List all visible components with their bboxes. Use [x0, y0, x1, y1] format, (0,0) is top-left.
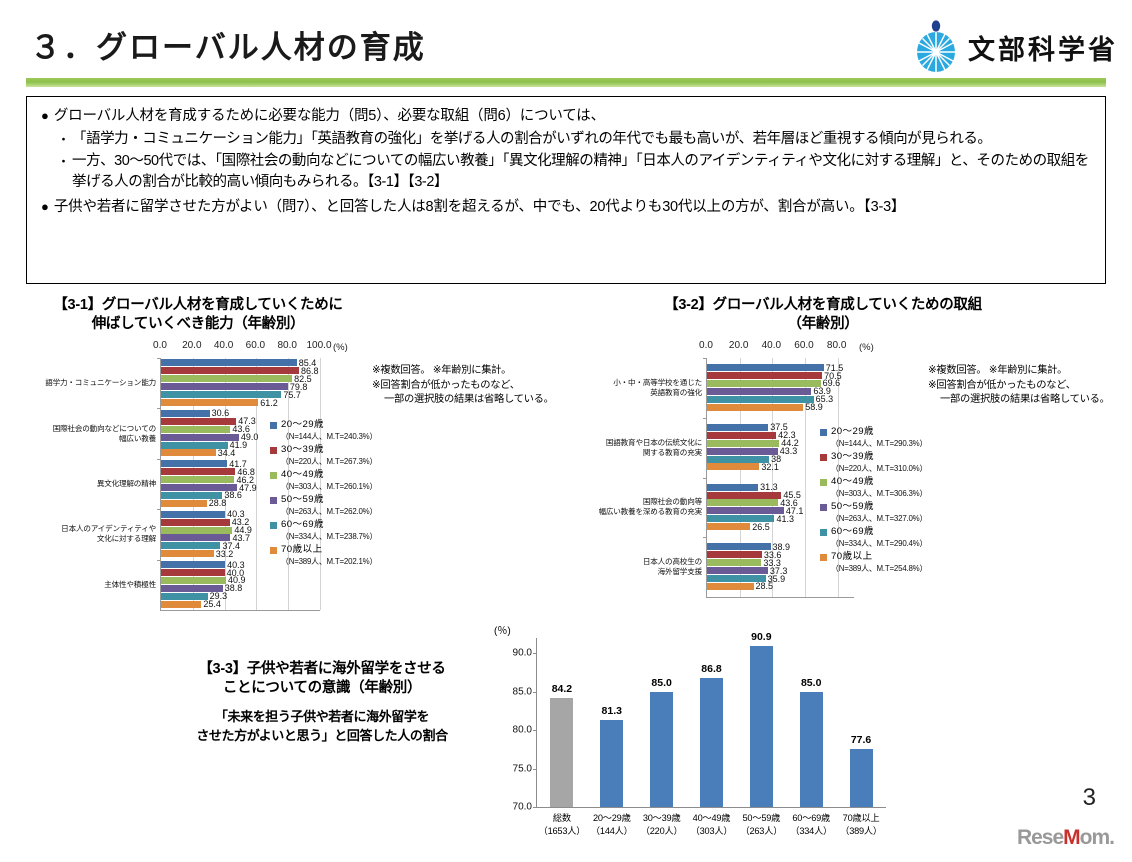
legend-swatch: [270, 472, 277, 479]
ministry-name: 文部科学省: [968, 28, 1118, 67]
bar-value-label: 25.4: [203, 600, 221, 609]
legend-sublabel: （N=220人、M.T=310.0%）: [831, 463, 927, 475]
category-label: 国際社会の動向などについての幅広い教養: [38, 424, 156, 444]
legend-label: 40～49歳: [831, 476, 874, 488]
legend-sublabel: （N=144人、M.T=240.3%）: [281, 431, 377, 443]
summary-text: グローバル人材を育成するために必要な能力（問5）、必要な取組（問6）については、: [54, 106, 605, 127]
axis-tick-label: 40.0: [214, 340, 233, 351]
category-label: 50～59歳（263人）: [740, 812, 782, 838]
chart-3-1-notes: ※複数回答。 ※年齢別に集計。 ※回答割合が低かったものなど、 一部の選択肢の結…: [372, 364, 554, 408]
bar: [161, 550, 214, 557]
legend-sublabel: （N=334人、M.T=290.4%）: [831, 538, 927, 550]
bar: [161, 561, 225, 568]
bar: [161, 601, 201, 608]
legend-sublabel: （N=144人、M.T=290.3%）: [831, 438, 927, 450]
bar: 81.3: [600, 720, 623, 807]
sub-bullet-icon: ・: [57, 129, 70, 150]
bar: [161, 410, 210, 417]
bar-value-label: 77.6: [851, 734, 871, 746]
bar: [707, 456, 769, 463]
page-title: ３．グローバル人材の育成: [30, 22, 426, 67]
legend-sublabel: （N=263人、M.T=262.0%）: [281, 506, 377, 518]
category-label: 60～69歳（334人）: [790, 812, 832, 838]
legend-sublabel: （N=334人、M.T=238.7%）: [281, 531, 377, 543]
bar-value-label: 75.7: [283, 391, 301, 400]
legend-item: 50～59歳（N=263人、M.T=327.0%）: [820, 501, 927, 525]
bar: [707, 424, 768, 431]
bar: [707, 372, 822, 379]
bar: [161, 359, 297, 366]
category-label: 小・中・高等学校を通じた英語教育の強化: [594, 378, 702, 398]
category-label: 語学力・コミュニケーション能力: [38, 378, 156, 388]
bar: [161, 519, 230, 526]
bar-value-label: 43.3: [780, 447, 798, 456]
legend-item: 50～59歳（N=263人、M.T=262.0%）: [270, 494, 377, 518]
axis-tick: [703, 478, 707, 479]
bar-value-label: 90.9: [751, 631, 771, 643]
bar: [161, 500, 207, 507]
legend-sublabel: （N=303人、M.T=260.1%）: [281, 481, 377, 493]
legend-item: 60～69歳（N=334人、M.T=290.4%）: [820, 526, 927, 550]
legend-sublabel: （N=263人、M.T=327.0%）: [831, 513, 927, 525]
category-label: 70歳以上（389人）: [840, 812, 882, 838]
brand-watermark: ReseMom.: [1017, 826, 1114, 850]
legend-label: 50～59歳: [831, 501, 874, 513]
bullet-icon: ●: [41, 106, 49, 125]
legend-item: 30～39歳（N=220人、M.T=310.0%）: [820, 451, 927, 475]
legend-label: 20～29歳: [831, 426, 874, 438]
y-axis-tick: [533, 692, 537, 693]
legend-label: 60～69歳: [831, 526, 874, 538]
legend-item: 40～49歳（N=303人、M.T=306.3%）: [820, 476, 927, 500]
legend-sublabel: （N=389人、M.T=254.8%）: [831, 563, 927, 575]
chart-3-1: 【3-1】グローバル人材を育成していくために 伸ばしていくべき能力（年齢別） 0…: [14, 296, 594, 646]
legend-item: 40～49歳（N=303人、M.T=260.1%）: [270, 469, 377, 493]
bar: [707, 492, 781, 499]
summary-sub-1: ・ 「語学力・コミュニケーション能力」「英語教育の強化」を挙げる人の割合がいずれ…: [57, 129, 1091, 151]
bar: 90.9: [750, 646, 773, 807]
y-axis-tick-label: 90.0: [513, 648, 532, 659]
bar: [161, 468, 235, 475]
chart-3-1-x-axis: 0.020.040.060.080.0100.0(%): [160, 340, 350, 355]
bar: [707, 567, 768, 574]
y-axis-tick-label: 75.0: [513, 763, 532, 774]
axis-tick: [703, 418, 707, 419]
chart-3-1-legend: 20～29歳（N=144人、M.T=240.3%）30～39歳（N=220人、M…: [270, 419, 377, 569]
bar: [707, 484, 758, 491]
bar: [161, 511, 225, 518]
legend-swatch: [820, 429, 827, 436]
ministry-flower-icon: [913, 20, 959, 74]
bar: [161, 527, 232, 534]
bar: [161, 418, 236, 425]
ministry-logo: 文部科学省: [913, 20, 1118, 74]
category-label: 異文化理解の精神: [38, 479, 156, 489]
category-label: 総数（1653人）: [539, 812, 586, 838]
legend-swatch: [820, 529, 827, 536]
chart-3-2-x-axis: 0.020.040.060.080.0(%): [706, 340, 881, 355]
chart-3-3-title: 【3-3】子供や若者に海外留学をさせる ことについての意識（年齢別）: [163, 660, 481, 698]
bar-value-label: 28.5: [756, 582, 774, 591]
legend-sublabel: （N=303人、M.T=306.3%）: [831, 488, 927, 500]
axis-tick-label: 40.0: [762, 340, 781, 351]
bar: [161, 426, 230, 433]
legend-label: 70歳以上: [831, 551, 872, 563]
y-axis-tick-label: 85.0: [513, 686, 532, 697]
axis-tick-label: 0.0: [153, 340, 167, 351]
chart-3-2: 【3-2】グローバル人材を育成していくための取組 （年齢別） 0.020.040…: [588, 296, 1132, 636]
bar: [161, 367, 299, 374]
bar: 77.6: [850, 749, 873, 807]
y-axis-tick-label: 70.0: [513, 802, 532, 813]
bar: [161, 460, 227, 467]
bar: [707, 448, 778, 455]
y-axis-tick: [533, 807, 537, 808]
legend-label: 20～29歳: [281, 419, 324, 431]
bar: [161, 534, 230, 541]
legend-item: 30～39歳（N=220人、M.T=267.3%）: [270, 444, 377, 468]
legend-item: 70歳以上（N=389人、M.T=254.8%）: [820, 551, 927, 575]
bar: 86.8: [700, 678, 723, 807]
bar-value-label: 86.8: [701, 663, 721, 675]
bar: [161, 542, 220, 549]
legend-swatch: [820, 554, 827, 561]
legend-item: 60～69歳（N=334人、M.T=238.7%）: [270, 519, 377, 543]
category-label: 主体性や積極性: [38, 580, 156, 590]
bar-value-label: 61.2: [260, 399, 278, 408]
summary-bullet-2: ● 子供や若者に留学させた方がよい（問7）、と回答した人は8割を超えるが、中でも…: [41, 197, 1091, 218]
axis-tick-label: 60.0: [246, 340, 265, 351]
legend-swatch: [270, 547, 277, 554]
axis-tick: [703, 537, 707, 538]
summary-bullet-1: ● グローバル人材を育成するために必要な能力（問5）、必要な取組（問6）について…: [41, 106, 1091, 127]
y-axis-tick-label: 80.0: [513, 725, 532, 736]
bar: [161, 577, 226, 584]
bar: [707, 543, 771, 550]
bar-value-label: 34.4: [218, 449, 236, 458]
bar: 85.0: [800, 692, 823, 807]
legend-swatch: [820, 454, 827, 461]
axis-tick-label: 80.0: [827, 340, 846, 351]
bar-value-label: 32.1: [761, 463, 779, 472]
bar-value-label: 85.0: [651, 677, 671, 689]
chart-3-3: (％) 70.075.080.085.090.084.2総数（1653人）81.…: [494, 620, 924, 850]
summary-text: 「語学力・コミュニケーション能力」「英語教育の強化」を挙げる人の割合がいずれの年…: [72, 129, 991, 151]
axis-tick-label: 0.0: [699, 340, 713, 351]
chart-3-2-title: 【3-2】グローバル人材を育成していくための取組 （年齢別）: [608, 296, 1038, 334]
bar: [161, 449, 216, 456]
bar-value-label: 85.0: [801, 677, 821, 689]
bar: [707, 583, 754, 590]
legend-label: 40～49歳: [281, 469, 324, 481]
axis-tick: [703, 358, 707, 359]
bar: [707, 559, 761, 566]
axis-unit-label: (%): [333, 342, 348, 353]
legend-item: 70歳以上（N=389人、M.T=202.1%）: [270, 544, 377, 568]
sub-bullet-icon: ・: [57, 151, 70, 172]
bar-value-label: 38.6: [224, 491, 242, 500]
legend-label: 50～59歳: [281, 494, 324, 506]
legend-label: 30～39歳: [831, 451, 874, 463]
category-label: 40～49歳（303人）: [691, 812, 733, 838]
chart-3-3-plot: 70.075.080.085.090.084.2総数（1653人）81.320～…: [536, 638, 886, 808]
category-label: 国際社会の動向等幅広い教養を深める教育の充実: [594, 497, 702, 517]
legend-swatch: [270, 497, 277, 504]
bar: [707, 388, 811, 395]
legend-label: 70歳以上: [281, 544, 322, 556]
chart-3-2-legend: 20～29歳（N=144人、M.T=290.3%）30～39歳（N=220人、M…: [820, 426, 927, 576]
bar: [161, 434, 239, 441]
bar-value-label: 33.2: [216, 550, 234, 559]
bar: [707, 396, 814, 403]
legend-swatch: [270, 522, 277, 529]
bar: [161, 375, 292, 382]
legend-swatch: [820, 479, 827, 486]
legend-label: 60～69歳: [281, 519, 324, 531]
page-number: 3: [1083, 784, 1096, 812]
bar: [707, 507, 784, 514]
bar-value-label: 84.2: [552, 683, 572, 695]
bar: [161, 383, 288, 390]
category-label: 20～29歳（144人）: [591, 812, 633, 838]
bullet-icon: ●: [41, 197, 49, 216]
legend-item: 20～29歳（N=144人、M.T=290.3%）: [820, 426, 927, 450]
legend-sublabel: （N=389人、M.T=202.1%）: [281, 556, 377, 568]
chart-3-3-subtitle: 「未来を担う子供や若者に海外留学を させた方がよいと思う」と回答した人の割合: [163, 707, 481, 745]
bar: [707, 551, 762, 558]
bar: [707, 463, 759, 470]
axis-tick-label: 20.0: [729, 340, 748, 351]
bar: 85.0: [650, 692, 673, 807]
legend-sublabel: （N=220人、M.T=267.3%）: [281, 456, 377, 468]
bar: [707, 364, 824, 371]
bar: [707, 440, 779, 447]
bar: 84.2: [550, 698, 573, 807]
bar: [161, 399, 258, 406]
bar: [707, 404, 803, 411]
legend-label: 30～39歳: [281, 444, 324, 456]
summary-text: 子供や若者に留学させた方がよい（問7）、と回答した人は8割を超えるが、中でも、2…: [54, 197, 905, 218]
category-label: 国語教育や日本の伝統文化に関する教育の充実: [594, 438, 702, 458]
chart-3-1-title: 【3-1】グローバル人材を育成していくために 伸ばしていくべき能力（年齢別）: [20, 296, 376, 334]
legend-swatch: [270, 447, 277, 454]
summary-sub-2: ・ 一方、30～50代では、「国際社会の動向などについての幅広い教養」「異文化理…: [57, 151, 1091, 194]
bar: [707, 499, 778, 506]
bar-value-label: 26.5: [752, 523, 770, 532]
y-axis-tick: [533, 730, 537, 731]
bar-value-label: 38.8: [225, 584, 243, 593]
bar-value-label: 58.9: [805, 403, 823, 412]
bar-value-label: 81.3: [602, 705, 622, 717]
summary-box: ● グローバル人材を育成するために必要な能力（問5）、必要な取組（問6）について…: [26, 96, 1106, 284]
axis-tick-label: 60.0: [794, 340, 813, 351]
category-label: 30～39歳（220人）: [641, 812, 683, 838]
axis-tick-label: 20.0: [182, 340, 201, 351]
title-underline-rule: [26, 78, 1106, 87]
bar: [161, 569, 225, 576]
axis-tick-label: 80.0: [277, 340, 296, 351]
bar: [707, 432, 776, 439]
bar: [707, 380, 821, 387]
bar: [161, 593, 208, 600]
summary-text: 一方、30～50代では、「国際社会の動向などについての幅広い教養」「異文化理解の…: [72, 151, 1091, 194]
category-label: 日本人のアイデンティティや文化に対する理解: [38, 524, 156, 544]
category-label: 日本人の高校生の海外留学支援: [594, 557, 702, 577]
chart-3-2-notes: ※複数回答。 ※年齢別に集計。 ※回答割合が低かったものなど、 一部の選択肢の結…: [928, 364, 1110, 408]
bar: [707, 523, 750, 530]
bar-value-label: 41.3: [776, 515, 794, 524]
legend-swatch: [270, 422, 277, 429]
y-axis-tick: [533, 653, 537, 654]
legend-swatch: [820, 504, 827, 511]
bar: [161, 476, 234, 483]
legend-item: 20～29歳（N=144人、M.T=240.3%）: [270, 419, 377, 443]
y-axis-tick: [533, 769, 537, 770]
bar-value-label: 28.8: [209, 499, 227, 508]
axis-unit-label: (%): [859, 342, 874, 353]
axis-tick-label: 100.0: [306, 340, 331, 351]
chart-3-3-unit-label: (％): [494, 622, 511, 637]
